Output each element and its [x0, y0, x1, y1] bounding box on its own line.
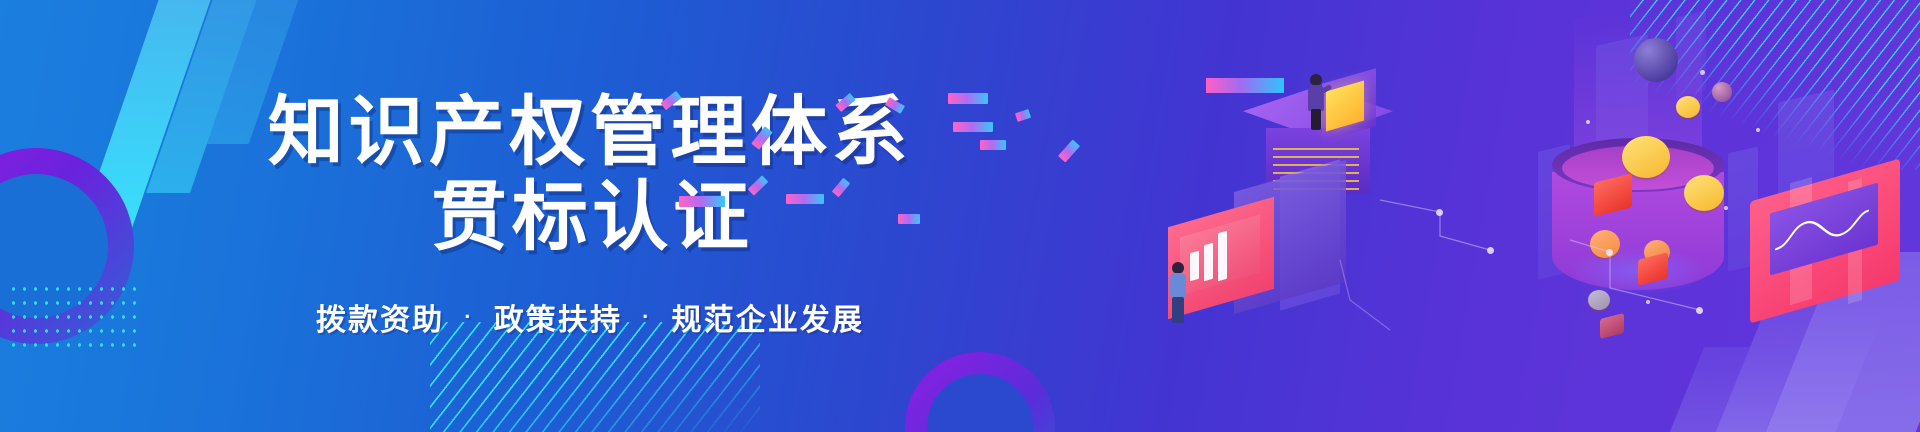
- banner-copy: 知识产权管理体系 贯标认证 拨款资助 · 政策扶持 · 规范企业发展: [0, 0, 1180, 432]
- subtitle-item-3: 规范企业发展: [672, 295, 865, 339]
- subtitle-separator-1: ·: [464, 306, 473, 328]
- subtitle-separator-2: ·: [642, 306, 651, 328]
- banner-subtitle: 拨款资助 · 政策扶持 · 规范企业发展: [316, 295, 864, 339]
- isometric-illustration: [1140, 0, 1920, 432]
- person-holding-card: [1308, 74, 1324, 130]
- connector-node-4: [1696, 307, 1703, 314]
- connector-node-3: [1606, 249, 1613, 256]
- person-legs: [1311, 109, 1321, 130]
- banner-title: 知识产权管理体系 贯标认证: [268, 93, 912, 257]
- subtitle-item-1: 拨款资助: [316, 295, 444, 339]
- title-line-1: 知识产权管理体系: [268, 93, 912, 172]
- title-line-2: 贯标认证: [268, 178, 912, 257]
- connector-node-1: [1436, 209, 1443, 216]
- subtitle-item-2: 政策扶持: [494, 295, 622, 339]
- connector-node-2: [1487, 247, 1494, 254]
- promo-banner: 知识产权管理体系 贯标认证 拨款资助 · 政策扶持 · 规范企业发展: [0, 0, 1920, 432]
- connector-lines: [1140, 0, 1920, 432]
